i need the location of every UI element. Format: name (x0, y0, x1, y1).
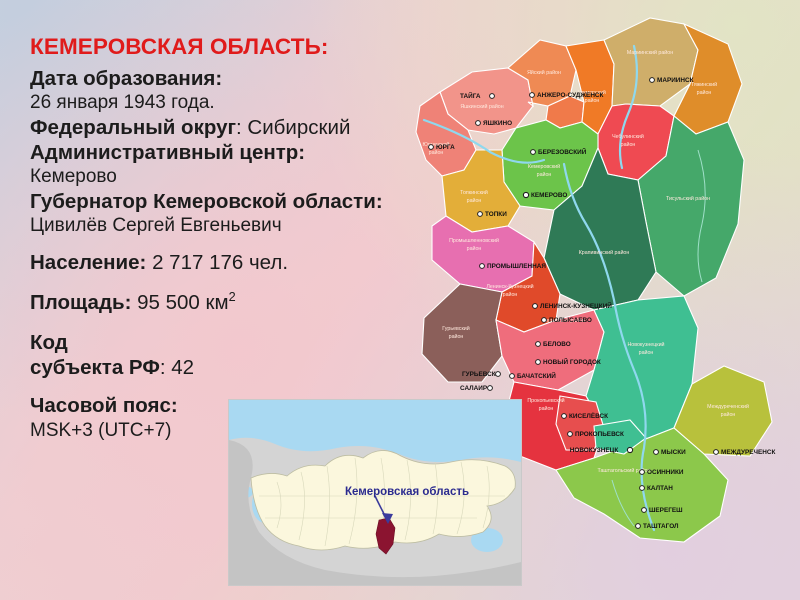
code-label-row-2: субъекта РФ: 42 (30, 356, 450, 380)
city-leninsk-kuznetsky: ЛЕНИНСК-КУЗНЕЦКИЙ (533, 301, 613, 310)
city-promyshlennaya: ПРОМЫШЛЕННАЯ (480, 263, 547, 270)
label-yaysky: Яйский район (527, 69, 561, 76)
label-yashkinsky: Яшкинский район (460, 103, 503, 110)
admin-center-label: Административный центр: (30, 141, 305, 164)
svg-text:КЕМЕРОВО: КЕМЕРОВО (531, 192, 567, 199)
slide-root: КЕМЕРОВСКАЯ ОБЛАСТЬ: Дата образования: 2… (0, 0, 800, 600)
label-novokuznetsky-2: район (639, 349, 654, 356)
city-anzhero-sudzhensk: АНЖЕРО-СУДЖЕНСК (530, 92, 604, 99)
city-salair: САЛАИР (460, 385, 492, 392)
city-tashtagol: ТАШТАГОЛ (636, 523, 679, 530)
timezone-label: Часовой пояс: (30, 394, 178, 417)
city-guryevsk: ГУРЬЕВСК (462, 371, 500, 378)
population-row: Население: 2 717 176 чел. (30, 251, 450, 275)
svg-text:САЛАИР: САЛАИР (460, 385, 488, 392)
label-kemerovsky-2: район (537, 171, 552, 178)
label-topkinsky: Топкинский (460, 189, 488, 196)
admin-center-value: Кемерово (30, 166, 117, 187)
svg-text:КИСЕЛЁВСК: КИСЕЛЁВСК (569, 412, 608, 420)
svg-text:АНЖЕРО-СУДЖЕНСК: АНЖЕРО-СУДЖЕНСК (537, 92, 604, 99)
info-panel: КЕМЕРОВСКАЯ ОБЛАСТЬ: Дата образования: 2… (30, 34, 450, 442)
svg-text:ПОЛЫСАЕВО: ПОЛЫСАЕВО (549, 317, 592, 324)
svg-text:БЕЛОВО: БЕЛОВО (543, 341, 571, 348)
svg-text:НОВОКУЗНЕЦК: НОВОКУЗНЕЦК (570, 447, 619, 454)
founded-value: 26 января 1943 года. (30, 92, 215, 113)
area-unit-exponent: 2 (229, 289, 236, 304)
svg-text:ТАЙГА: ТАЙГА (460, 91, 481, 100)
governor-value-row: Цивилёв Сергей Евгеньевич (30, 215, 450, 237)
federal-district-label: Федеральный округ (30, 116, 236, 139)
label-kemerovsky: Кемеровский (528, 163, 560, 170)
label-leninsk-2: район (503, 291, 518, 298)
city-kiselevsk: КИСЕЛЁВСК (562, 412, 609, 420)
label-chebulinsky-2: район (621, 141, 636, 148)
svg-text:ПРОМЫШЛЕННАЯ: ПРОМЫШЛЕННАЯ (487, 263, 546, 270)
label-prokopyevsky: Прокопьевский (527, 397, 564, 404)
svg-text:МЕЖДУРЕЧЕНСК: МЕЖДУРЕЧЕНСК (721, 449, 775, 456)
label-krapivinsky: Крапивинский район (579, 249, 630, 256)
city-mariinsk: МАРИИНСК (650, 77, 694, 84)
svg-text:МАРИИНСК: МАРИИНСК (657, 77, 694, 84)
city-mezhdurechensk: МЕЖДУРЕЧЕНСК (714, 449, 776, 456)
governor-label: Губернатор Кемеровской области: (30, 190, 383, 213)
founded-label: Дата образования: (30, 67, 222, 90)
founded-label-row: Дата образования: (30, 67, 450, 91)
svg-text:КАЛТАН: КАЛТАН (647, 485, 673, 492)
label-mariinsky: Мариинский район (627, 49, 673, 56)
label-topkinsky-2: район (467, 197, 482, 204)
russia-locator-map: Кемеровская область (228, 399, 522, 586)
area-label: Площадь: (30, 291, 131, 314)
timezone-value: MSK+3 (UTC+7) (30, 420, 171, 441)
label-guryevsky: Гурьевский (442, 325, 469, 332)
area-value: 95 500 км (131, 291, 228, 314)
population-value: 2 717 176 чел. (146, 251, 288, 274)
city-osinniki: ОСИННИКИ (640, 469, 684, 476)
label-novokuznetsky: Новокузнецкий (627, 341, 664, 348)
svg-text:БЕРЕЗОВСКИЙ: БЕРЕЗОВСКИЙ (538, 147, 587, 156)
svg-text:ШЕРЕГЕШ: ШЕРЕГЕШ (649, 507, 683, 514)
label-mezhdurechensky-2: район (721, 411, 736, 418)
label-chebulinsky: Чебулинский (612, 133, 644, 140)
svg-text:ОСИННИКИ: ОСИННИКИ (647, 469, 684, 476)
governor-label-row: Губернатор Кемеровской области: (30, 190, 450, 214)
city-bachatsky: БАЧАТСКИЙ (510, 371, 557, 380)
area-row: Площадь: 95 500 км2 (30, 289, 450, 315)
svg-text:ЮРГА: ЮРГА (436, 144, 455, 151)
label-promyshlennovsky-2: район (467, 245, 482, 252)
inset-region-label: Кемеровская область (345, 486, 469, 498)
svg-text:МЫСКИ: МЫСКИ (661, 449, 686, 456)
governor-value: Цивилёв Сергей Евгеньевич (30, 215, 282, 236)
city-prokopyevsk: ПРОКОПЬЕВСК (568, 431, 624, 438)
city-polysaevo: ПОЛЫСАЕВО (542, 317, 592, 324)
svg-text:ПРОКОПЬЕВСК: ПРОКОПЬЕВСК (575, 431, 624, 438)
federal-district-value: : Сибирский (236, 116, 350, 139)
label-tyazhinsky: Тяжинский (691, 81, 717, 88)
city-berezovsky: БЕРЕЗОВСКИЙ (531, 147, 587, 156)
svg-text:НОВЫЙ ГОРОДОК: НОВЫЙ ГОРОДОК (543, 357, 601, 366)
subject-code-value: : 42 (160, 356, 194, 379)
label-promyshlennovsky: Промышленновский (449, 237, 499, 244)
svg-text:БАЧАТСКИЙ: БАЧАТСКИЙ (517, 371, 556, 380)
founded-value-row: 26 января 1943 года. (30, 92, 450, 114)
svg-text:ЯШКИНО: ЯШКИНО (483, 120, 512, 127)
label-tisulsky: Тисульский район (666, 195, 710, 202)
district-mariinsky (604, 18, 698, 106)
city-novy-gorodok: НОВЫЙ ГОРОДОК (536, 357, 601, 366)
svg-text:ЛЕНИНСК-КУЗНЕЦКИЙ: ЛЕНИНСК-КУЗНЕЦКИЙ (540, 301, 612, 310)
subject-code-label-line1: Код (30, 331, 68, 354)
population-label: Население: (30, 251, 146, 274)
admin-center-value-row: Кемерово (30, 166, 450, 188)
label-tyazhinsky-2: район (697, 89, 712, 96)
subject-code-label-line2: субъекта РФ (30, 356, 160, 379)
label-mezhdurechensky: Междуреченский (707, 403, 749, 410)
admin-center-label-row: Административный центр: (30, 141, 450, 165)
code-label-row-1: Код (30, 331, 450, 355)
label-guryevsky-2: район (449, 333, 464, 340)
svg-text:ТАШТАГОЛ: ТАШТАГОЛ (643, 523, 679, 530)
svg-text:ТОПКИ: ТОПКИ (485, 211, 507, 218)
label-leninsk: Ленинск-Кузнецкий (486, 283, 533, 290)
svg-text:ГУРЬЕВСК: ГУРЬЕВСК (462, 371, 496, 378)
federal-district-row: Федеральный округ: Сибирский (30, 116, 450, 140)
district-guryevsky (422, 284, 502, 382)
page-title: КЕМЕРОВСКАЯ ОБЛАСТЬ: (30, 34, 450, 60)
label-prokopyevsky-2: район (539, 405, 554, 412)
